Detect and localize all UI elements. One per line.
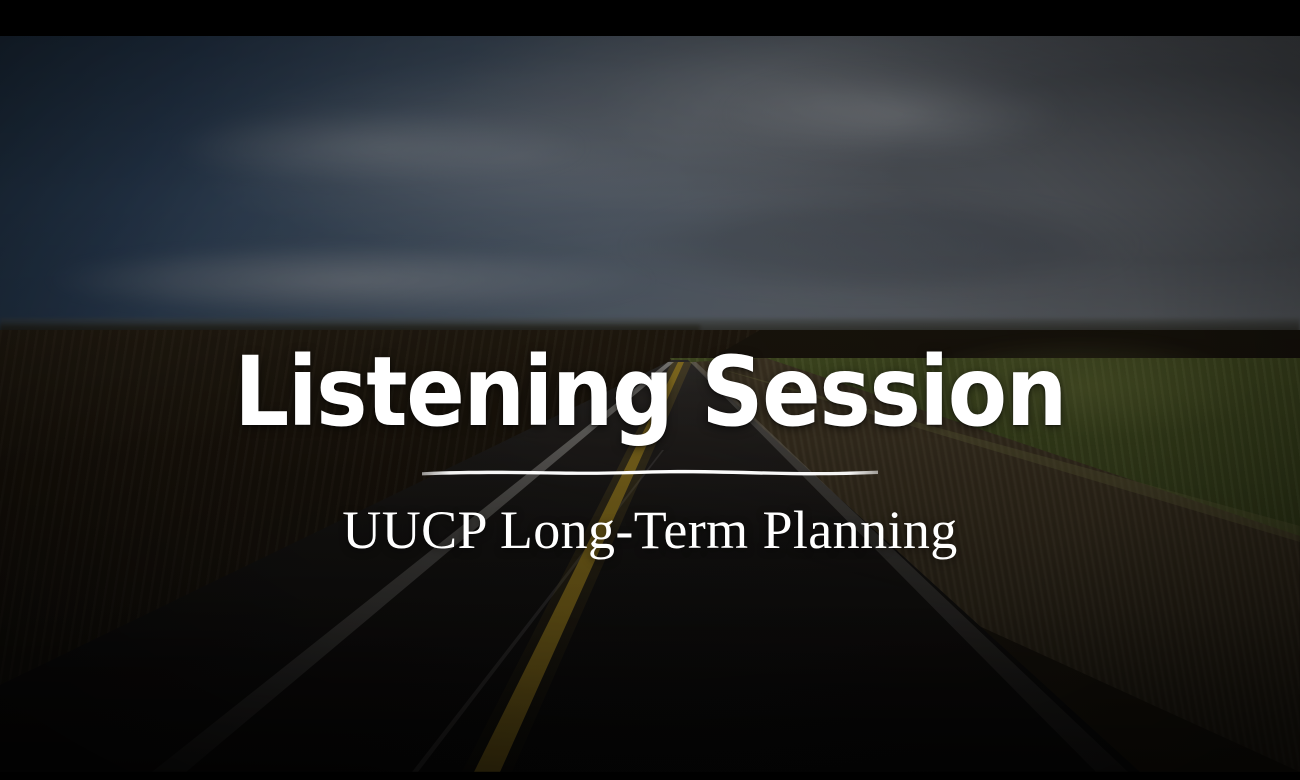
page-subtitle: UUCP Long-Term Planning: [342, 500, 957, 560]
letterbox-bar-top: [0, 0, 1300, 36]
page-title: Listening Session: [234, 344, 1066, 442]
brush-stroke-divider-icon: [420, 462, 880, 480]
title-block: Listening Session UUCP Long-Term Plannin…: [0, 36, 1300, 772]
letterbox-bar-bottom: [0, 772, 1300, 780]
title-slide: Listening Session UUCP Long-Term Plannin…: [0, 0, 1300, 780]
